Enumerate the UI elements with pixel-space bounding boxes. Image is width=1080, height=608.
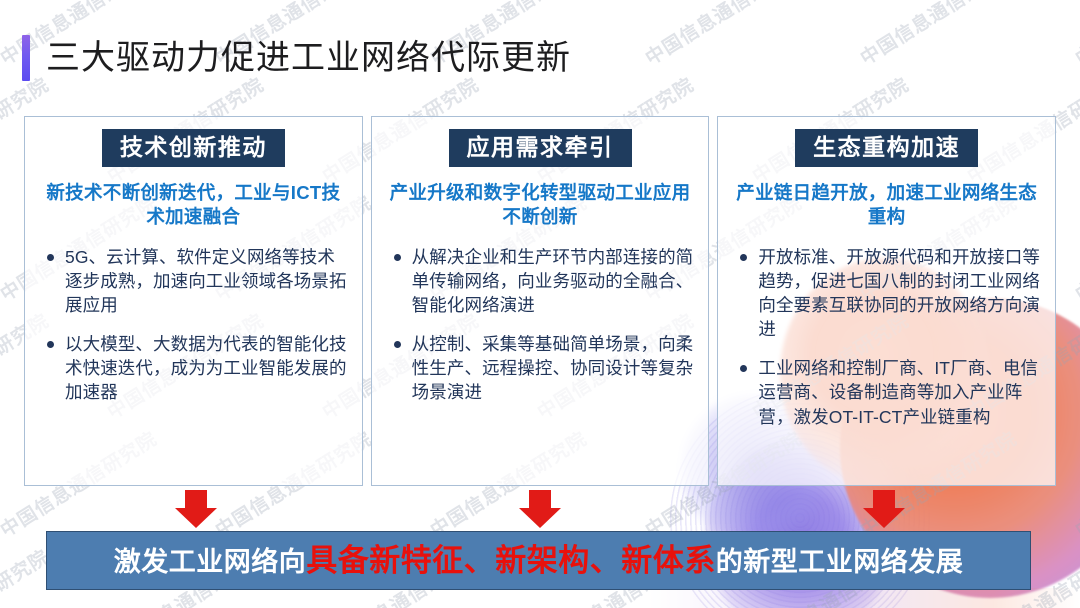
list-item: 从解决企业和生产环节内部连接的简单传输网络，向业务驱动的全融合、智能化网络演进: [384, 245, 697, 317]
banner-suffix: 的新型工业网络发展: [716, 547, 964, 577]
down-arrow-icon: [863, 490, 905, 528]
banner-prefix: 激发工业网络向: [114, 547, 307, 577]
list-item: 开放标准、开放源代码和开放接口等趋势，促进七国八制的封闭工业网络向全要素互联协同…: [730, 245, 1043, 342]
card-subtitle: 产业链日趋开放，加速工业网络生态重构: [730, 181, 1043, 228]
slide-canvas: 中国信息通信研究院中国信息通信研究院中国信息通信研究院中国信息通信研究院中国信息…: [0, 0, 1080, 608]
card-bullet-list: 开放标准、开放源代码和开放接口等趋势，促进七国八制的封闭工业网络向全要素互联协同…: [730, 245, 1043, 444]
banner-highlight: 具备新特征、新架构、新体系: [306, 543, 716, 578]
title-accent-bar: [22, 35, 30, 81]
card-badge-label: 生态重构加速: [795, 129, 978, 167]
driver-card-application: 应用需求牵引 产业升级和数字化转型驱动工业应用不断创新 从解决企业和生产环节内部…: [371, 116, 710, 486]
list-item: 5G、云计算、软件定义网络等技术逐步成熟，加速向工业领域各场景拓展应用: [37, 245, 350, 317]
arrows-row: [24, 490, 1056, 530]
arrow-cell: [712, 490, 1056, 530]
card-badge-label: 应用需求牵引: [449, 129, 632, 167]
card-subtitle: 新技术不断创新迭代，工业与ICT技术加速融合: [37, 181, 350, 228]
decorative-bottom-strip: [0, 588, 1080, 608]
driver-cards-container: 技术创新推动 新技术不断创新迭代，工业与ICT技术加速融合 5G、云计算、软件定…: [24, 116, 1056, 486]
list-item: 从控制、采集等基础简单场景，向柔性生产、远程操控、协同设计等复杂场景演进: [384, 332, 697, 404]
watermark-text: 中国信息通信研究院: [1069, 188, 1080, 306]
driver-card-ecosystem: 生态重构加速 产业链日趋开放，加速工业网络生态重构 开放标准、开放源代码和开放接…: [717, 116, 1056, 486]
list-item: 工业网络和控制厂商、IT厂商、电信运营商、设备制造商等加入产业阵营，激发OT-I…: [730, 356, 1043, 428]
card-bullet-list: 从解决企业和生产环节内部连接的简单传输网络，向业务驱动的全融合、智能化网络演进 …: [384, 245, 697, 420]
driver-card-technology: 技术创新推动 新技术不断创新迭代，工业与ICT技术加速融合 5G、云计算、软件定…: [24, 116, 363, 486]
down-arrow-icon: [519, 490, 561, 528]
page-title: 三大驱动力促进工业网络代际更新: [46, 41, 571, 75]
watermark-text: 中国信息通信研究院: [1069, 424, 1080, 542]
slide-title-row: 三大驱动力促进工业网络代际更新: [22, 34, 571, 82]
watermark-text: 中国信息通信研究院: [854, 0, 1021, 71]
card-subtitle: 产业升级和数字化转型驱动工业应用不断创新: [384, 181, 697, 228]
list-item: 以大模型、大数据为代表的智能化技术快速迭代，成为为工业智能发展的加速器: [37, 332, 350, 404]
arrow-cell: [368, 490, 712, 530]
watermark-text: 中国信息通信研究院: [639, 0, 806, 71]
down-arrow-icon: [175, 490, 217, 528]
card-bullet-list: 5G、云计算、软件定义网络等技术逐步成熟，加速向工业领域各场景拓展应用 以大模型…: [37, 245, 350, 420]
watermark-text: 中国信息通信研究院: [1069, 0, 1080, 71]
conclusion-banner-text: 激发工业网络向具备新特征、新架构、新体系的新型工业网络发展: [114, 545, 964, 576]
card-badge-label: 技术创新推动: [102, 129, 285, 167]
conclusion-banner: 激发工业网络向具备新特征、新架构、新体系的新型工业网络发展: [46, 531, 1031, 590]
arrow-cell: [24, 490, 368, 530]
